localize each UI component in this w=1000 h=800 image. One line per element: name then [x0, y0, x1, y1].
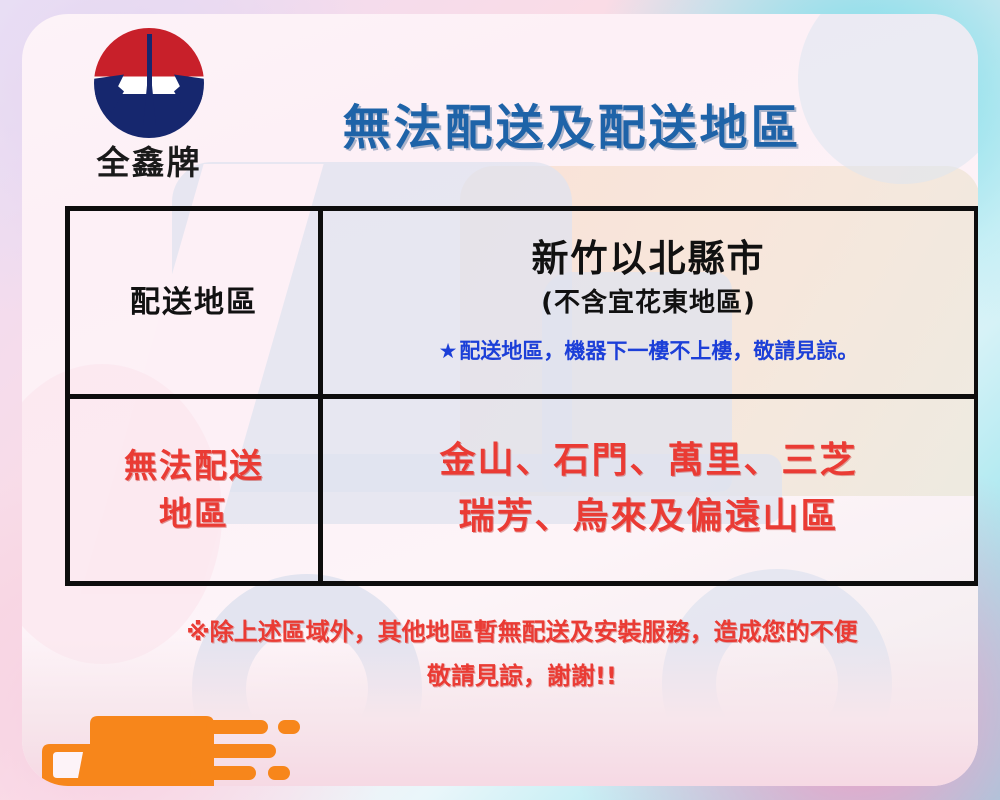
no-delivery-list-line2: 瑞芳、烏來及偏遠山區 [458, 489, 838, 545]
row-content-delivery-area: 新竹以北縣市 (不含宜花東地區) ★配送地區，機器下一樓不上樓，敬請見諒。 [323, 211, 974, 394]
delivery-truck-icon [40, 704, 330, 786]
page-title: 無法配送及配送地區 [272, 104, 872, 152]
poster-canvas: 全鑫牌 無法配送及配送地區 配送地區 新竹以北縣市 (不含宜花東地區) ★配送地… [0, 0, 1000, 800]
table-row: 配送地區 新竹以北縣市 (不含宜花東地區) ★配送地區，機器下一樓不上樓，敬請見… [70, 211, 974, 394]
wave-left-shape [94, 72, 124, 114]
brand-logo: 全鑫牌 [64, 28, 234, 178]
ship-emblem-icon [94, 28, 204, 138]
row-label-text-line1: 無法配送 [124, 442, 264, 490]
row-content-no-delivery-area: 金山、石門、萬里、三芝 瑞芳、烏來及偏遠山區 [323, 399, 974, 581]
brand-name: 全鑫牌 [64, 136, 234, 184]
content-card: 全鑫牌 無法配送及配送地區 配送地區 新竹以北縣市 (不含宜花東地區) ★配送地… [22, 14, 978, 786]
row-label-text: 配送地區 [130, 284, 258, 322]
delivery-area-note-text: 配送地區，機器下一樓不上樓，敬請見諒。 [459, 339, 858, 363]
delivery-info-table: 配送地區 新竹以北縣市 (不含宜花東地區) ★配送地區，機器下一樓不上樓，敬請見… [65, 206, 978, 586]
row-label-text-line2: 地區 [159, 490, 229, 538]
delivery-area-note: ★配送地區，機器下一樓不上樓，敬請見諒。 [439, 335, 859, 365]
table-row: 無法配送 地區 金山、石門、萬里、三芝 瑞芳、烏來及偏遠山區 [70, 394, 974, 581]
wave-right-shape [174, 72, 204, 114]
row-label-delivery-area: 配送地區 [70, 211, 323, 394]
delivery-area-main-text: 新竹以北縣市 [532, 238, 766, 281]
delivery-area-sub-text: (不含宜花東地區) [541, 289, 756, 319]
mast-shape [147, 34, 152, 130]
watermark-circle-top [798, 14, 978, 184]
footer-note-line2: 敬請見諒，謝謝!! [82, 654, 962, 698]
row-label-no-delivery-area: 無法配送 地區 [70, 399, 323, 581]
no-delivery-list-line1: 金山、石門、萬里、三芝 [439, 433, 857, 489]
footer-note: ※除上述區域外，其他地區暫無配送及安裝服務，造成您的不便 敬請見諒，謝謝!! [82, 610, 962, 699]
star-icon: ★ [439, 339, 458, 363]
footer-note-line1: ※除上述區域外，其他地區暫無配送及安裝服務，造成您的不便 [82, 610, 962, 654]
